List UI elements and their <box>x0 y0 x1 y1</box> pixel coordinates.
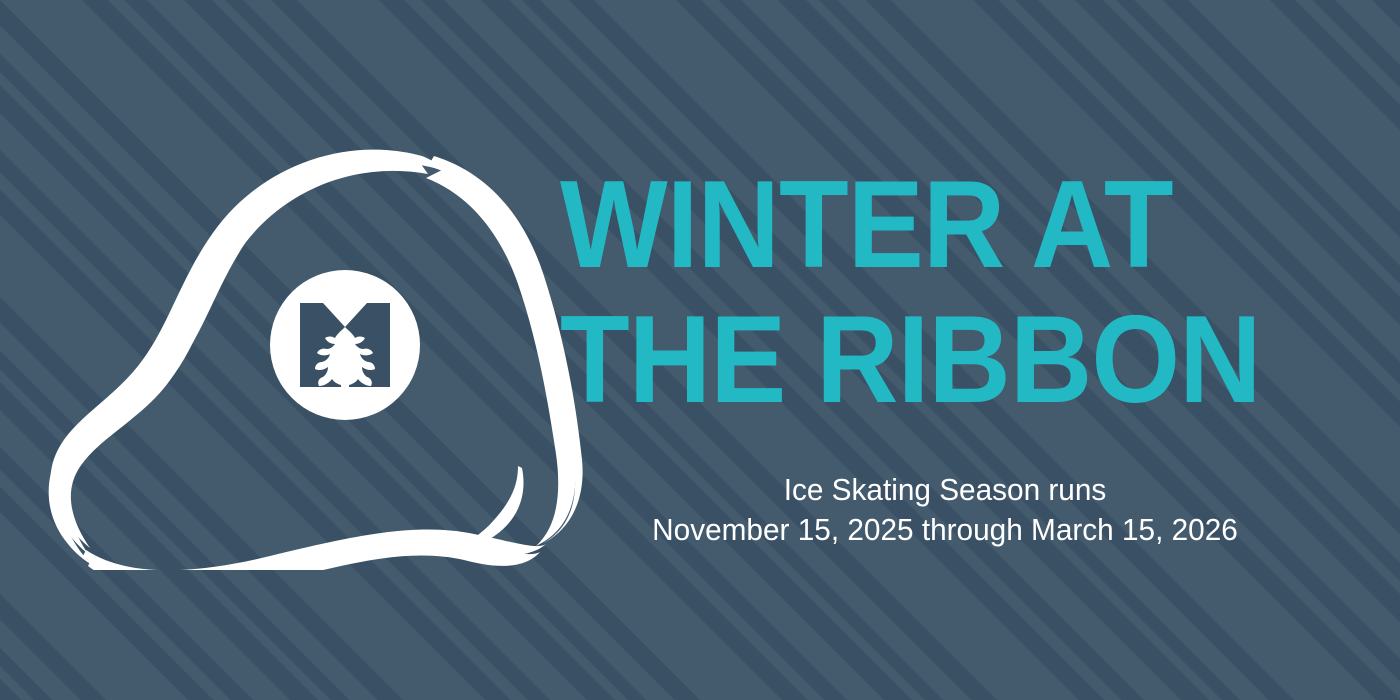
subtitle-line-1: Ice Skating Season runs <box>575 470 1314 510</box>
ribbon-right-inner <box>426 170 576 546</box>
subtitle-line-2: November 15, 2025 through March 15, 2026 <box>575 510 1314 550</box>
oak-leaf-in-book-emblem <box>265 265 425 425</box>
headline-line-2: THE RIBBON <box>560 293 1259 428</box>
winter-at-the-ribbon-banner: WINTER AT THE RIBBON Ice Skating Season … <box>0 0 1400 700</box>
headline-block: WINTER AT THE RIBBON Ice Skating Season … <box>560 150 1320 550</box>
headline-line-1: WINTER AT <box>560 158 1259 293</box>
subtitle-block: Ice Skating Season runs November 15, 202… <box>560 470 1330 550</box>
